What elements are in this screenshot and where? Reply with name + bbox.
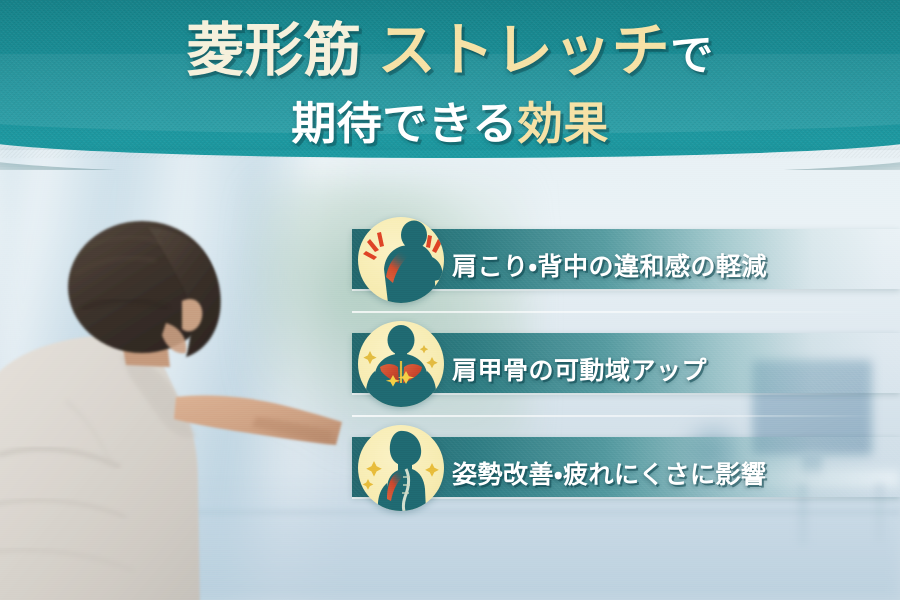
shelf-line-1 [352, 289, 900, 291]
benefit-label-2: 肩甲骨の可動域アップ [452, 351, 882, 387]
shoulder-pain-icon [358, 217, 444, 303]
benefits-list: 肩こり・背中の違和感の軽減 [0, 0, 900, 600]
shelf-line-2 [352, 311, 900, 313]
infographic-slide: 菱形筋ストレッチで 期待できる効果 肩こり・背中の違和感の軽減 [0, 0, 900, 600]
posture-icon [358, 425, 444, 511]
scapula-mobility-icon [358, 321, 444, 407]
benefit-label-1: 肩こり・背中の違和感の軽減 [452, 247, 882, 283]
shelf-line-4 [352, 415, 900, 417]
shelf-line-5 [352, 497, 900, 499]
shelf-line-3 [352, 393, 900, 395]
benefit-label-3: 姿勢改善・疲れにくさに影響 [452, 455, 882, 491]
